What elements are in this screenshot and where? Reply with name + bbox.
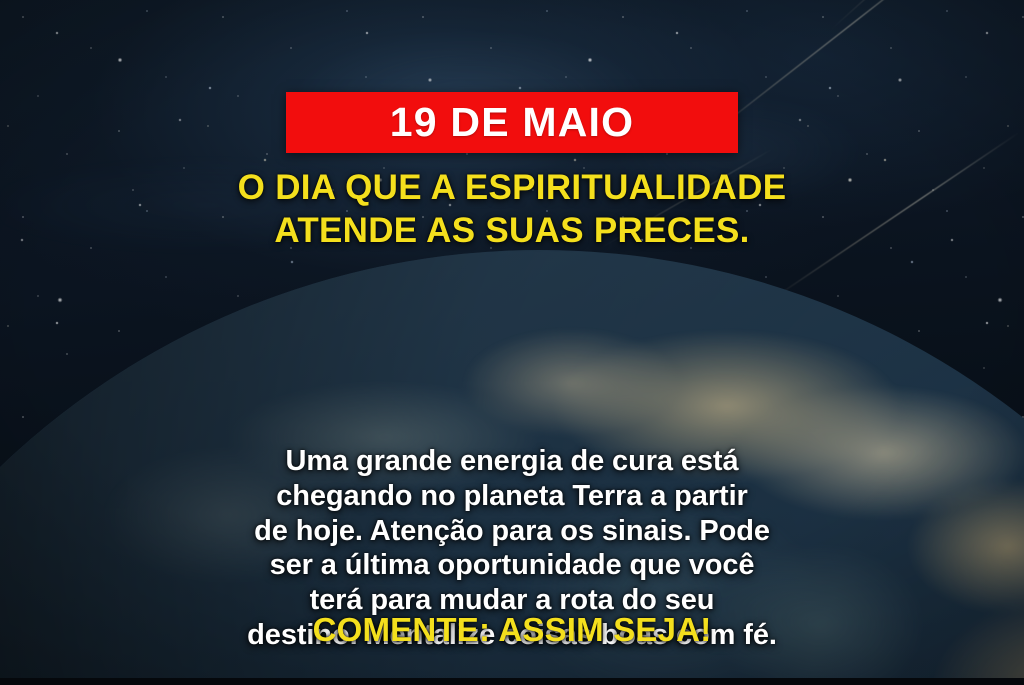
headline-line-1: O DIA QUE A ESPIRITUALIDADE <box>40 167 984 210</box>
body-line-3: de hoje. Atenção para os sinais. Pode <box>60 514 964 549</box>
date-banner-label: 19 DE MAIO <box>390 102 634 143</box>
date-banner: 19 DE MAIO <box>286 92 738 153</box>
body-line-4: ser a última oportunidade que você <box>60 548 964 583</box>
poster-image: 19 DE MAIO O DIA QUE A ESPIRITUALIDADE A… <box>0 0 1024 685</box>
body-line-1: Uma grande energia de cura está <box>60 444 964 479</box>
poster-content: 19 DE MAIO O DIA QUE A ESPIRITUALIDADE A… <box>0 0 1024 685</box>
cta-label: COMENTE: ASSIM SEJA! <box>313 611 712 648</box>
bottom-black-bar <box>0 678 1024 685</box>
headline-line-2: ATENDE AS SUAS PRECES. <box>40 210 984 253</box>
body-line-2: chegando no planeta Terra a partir <box>60 479 964 514</box>
headline: O DIA QUE A ESPIRITUALIDADE ATENDE AS SU… <box>0 167 1024 252</box>
call-to-action: COMENTE: ASSIM SEJA! <box>0 613 1024 646</box>
